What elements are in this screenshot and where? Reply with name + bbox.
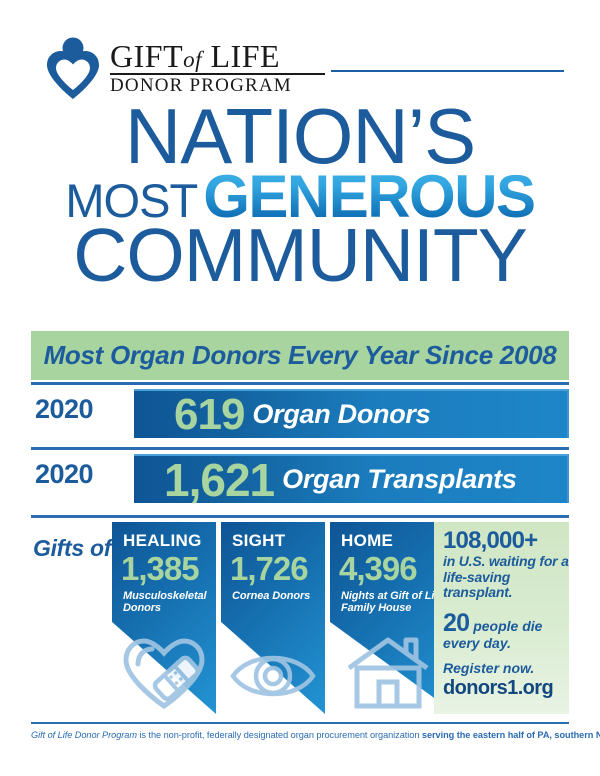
footer-disclaimer: Gift of Life Donor Program is the non-pr…	[31, 730, 576, 740]
stat-value: 1,621	[164, 457, 274, 503]
footer-middle-text: is the non-profit, federally designated …	[137, 730, 422, 740]
eye-icon	[229, 632, 317, 710]
waiting-count: 108,000+	[443, 529, 569, 553]
gift-value: 1,726	[230, 552, 325, 587]
gift-subtitle: Cornea Donors	[232, 590, 325, 603]
logo-line-1: GIFTof LIFE	[110, 41, 325, 71]
stat-bar-fill: 619 Organ Donors	[134, 389, 569, 438]
deaths-label: people die	[473, 619, 542, 634]
deaths-row: 20 people die	[443, 611, 569, 636]
waiting-text: in U.S. waiting for a life-saving transp…	[443, 554, 569, 601]
gift-title: HEALING	[123, 531, 216, 551]
footer-org-name: Gift of Life Donor Program	[31, 730, 137, 740]
logo-trailing-rule	[331, 70, 564, 72]
divider-rule	[31, 382, 569, 385]
green-banner-text: Most Organ Donors Every Year Since 2008	[44, 340, 557, 371]
footer-divider-rule	[31, 722, 569, 724]
stat-bar-fill: 1,621 Organ Transplants	[134, 454, 569, 503]
headline-line-1: NATION’S	[0, 104, 600, 170]
waiting-list-panel: 108,000+ in U.S. waiting for a life-savi…	[434, 522, 569, 714]
stat-year: 2020	[35, 459, 93, 490]
gift-title: SIGHT	[232, 531, 325, 551]
divider-rule	[31, 447, 569, 450]
gifts-divider-rule	[31, 515, 569, 518]
green-banner: Most Organ Donors Every Year Since 2008	[31, 331, 569, 380]
gift-value: 1,385	[121, 552, 216, 587]
gift-subtitle: Musculoskeletal Donors	[123, 590, 216, 615]
gifts-of-label: Gifts of	[33, 535, 111, 562]
heart-bandage-icon	[120, 632, 208, 710]
stat-bar-organ-transplants: 2020 1,621 Organ Transplants	[31, 447, 569, 503]
stat-label: Organ Donors	[252, 399, 430, 430]
logo-wordmark: GIFTof LIFE DONOR PROGRAM	[110, 41, 325, 94]
page-title: NATION’S MOSTGENEROUS COMMUNITY	[0, 104, 600, 287]
headline-line-3: COMMUNITY	[0, 224, 600, 287]
gift-column-sight: SIGHT 1,726 Cornea Donors	[221, 522, 325, 714]
deaths-label-2: every day.	[443, 636, 569, 651]
house-icon	[344, 632, 432, 710]
gift-column-healing: HEALING 1,385 Musculoskeletal Donors	[112, 522, 216, 714]
footer-service-area: serving the eastern half of PA, southern…	[422, 730, 600, 740]
stat-label: Organ Transplants	[282, 464, 516, 495]
deaths-count: 20	[443, 611, 469, 636]
stat-year: 2020	[35, 394, 93, 425]
heart-person-logo-icon	[44, 37, 102, 99]
register-call-to-action: Register now.	[443, 661, 569, 676]
donors1-url-link[interactable]: donors1.org	[443, 678, 569, 699]
stat-value: 619	[174, 393, 244, 437]
stat-bar-organ-donors: 2020 619 Organ Donors	[31, 382, 569, 438]
